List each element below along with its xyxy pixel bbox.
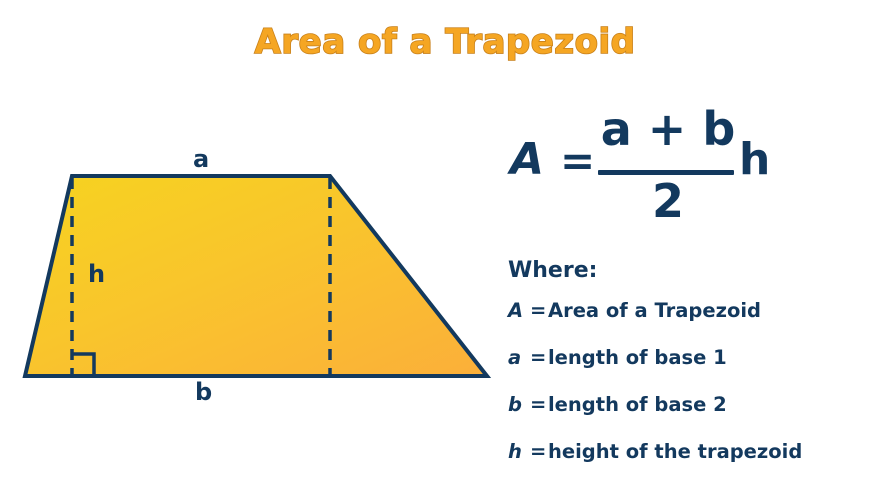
formula-denominator: 2 [600,176,736,227]
formula-numerator: a + b [600,104,736,155]
trapezoid-figure: a b h [0,130,510,430]
formula-lhs-A: A [510,138,544,182]
legend-row-h: h = height of the trapezoid [508,440,878,487]
page-title: Area of a Trapezoid [0,22,890,62]
label-bottom-base-b: b [195,380,212,404]
legend-eq-A: = [530,299,548,322]
legend-var-a: a [508,346,530,369]
legend-var-b: b [508,393,530,416]
legend-desc-b: length of base 2 [548,393,878,416]
formula-equals-sign: = [560,140,595,182]
legend-row-b: b = length of base 2 [508,393,878,440]
formula-multiplier-h: h [739,138,770,182]
legend-desc-h: height of the trapezoid [548,440,878,463]
area-formula: A = a + b 2 h [508,104,838,224]
legend-block: Where: A = Area of a Trapezoid a = lengt… [508,258,878,487]
legend-row-a: a = length of base 1 [508,346,878,393]
label-top-base-a: a [193,147,209,171]
legend-desc-a: length of base 1 [548,346,878,369]
label-height-h: h [88,262,105,286]
diagram-canvas: Area of a Trapezoid a b h A [0,0,890,499]
legend-row-A: A = Area of a Trapezoid [508,299,878,346]
legend-eq-b: = [530,393,548,416]
legend-desc-A: Area of a Trapezoid [548,299,878,322]
legend-heading: Where: [508,258,878,283]
legend-eq-a: = [530,346,548,369]
legend-var-h: h [508,440,530,463]
legend-eq-h: = [530,440,548,463]
legend-var-A: A [508,299,530,322]
trapezoid-svg [0,130,510,430]
